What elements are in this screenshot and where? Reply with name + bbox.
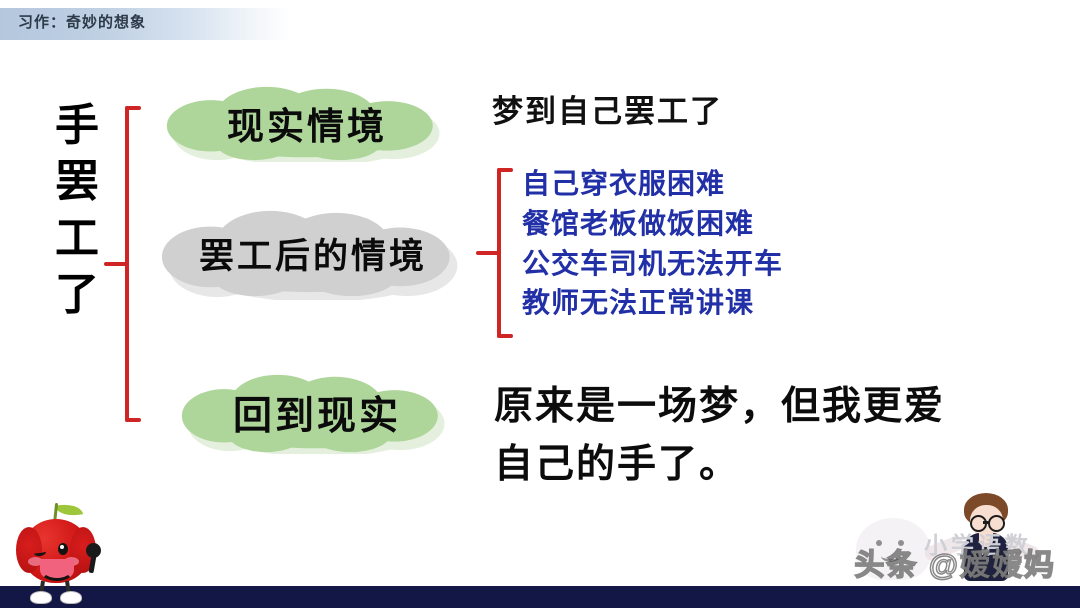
cloud-after-strike: 罢工后的情境	[158, 206, 468, 300]
bracket-stem	[476, 251, 499, 255]
conclusion-line-1: 原来是一场梦，但我更爱	[494, 378, 994, 436]
bracket-arm-top	[497, 168, 513, 172]
conclusion-line-2: 自己的手了。	[494, 436, 994, 494]
detail-item-3: 公交车司机无法开车	[522, 245, 783, 285]
bracket-stem	[104, 262, 128, 266]
bottom-band	[0, 586, 1080, 608]
topic-char-4: 了	[46, 267, 108, 323]
topic-char-3: 工	[46, 211, 108, 267]
apple-shoe-right	[60, 591, 82, 604]
conclusion-text: 原来是一场梦，但我更爱 自己的手了。	[494, 378, 994, 493]
bracket-arm-bottom	[125, 418, 141, 422]
cloud-after-strike-label: 罢工后的情境	[199, 228, 427, 279]
cloud-back-to-reality: 回到现实	[178, 372, 456, 454]
glasses-bridge	[983, 521, 989, 524]
cloud-back-label: 回到现实	[233, 385, 401, 441]
topic-char-1: 手	[46, 98, 108, 154]
apple-leaf-icon	[55, 500, 83, 519]
detail-item-2: 餐馆老板做饭困难	[522, 205, 783, 245]
bracket-arm-top	[125, 106, 141, 110]
apple-shoe-left	[30, 591, 52, 604]
main-bracket	[116, 106, 142, 422]
apple-mascot-icon	[14, 497, 106, 602]
topic-title: 手 罢 工 了	[46, 98, 108, 323]
cloud-reality: 现实情境	[163, 84, 451, 162]
detail-list: 自己穿衣服困难 餐馆老板做饭困难 公交车司机无法开车 教师无法正常讲课	[522, 165, 783, 324]
topic-char-2: 罢	[46, 154, 108, 210]
watermark-text: 头条 @嫒嫒妈	[854, 540, 1056, 584]
apple-mouth	[40, 559, 74, 581]
apple-eye-open-icon	[58, 543, 68, 555]
detail-bracket	[488, 168, 512, 338]
detail-item-4: 教师无法正常讲课	[522, 284, 783, 324]
cloud-reality-label: 现实情境	[227, 96, 387, 150]
detail-item-1: 自己穿衣服困难	[522, 165, 783, 205]
slide-canvas: 习作：奇妙的想象 手 罢 工 了	[0, 0, 1080, 608]
dream-text: 梦到自己罢工了	[492, 86, 723, 131]
microphone-icon	[86, 543, 101, 558]
page-title: 习作：奇妙的想象	[18, 11, 146, 32]
bracket-arm-bottom	[497, 334, 513, 338]
